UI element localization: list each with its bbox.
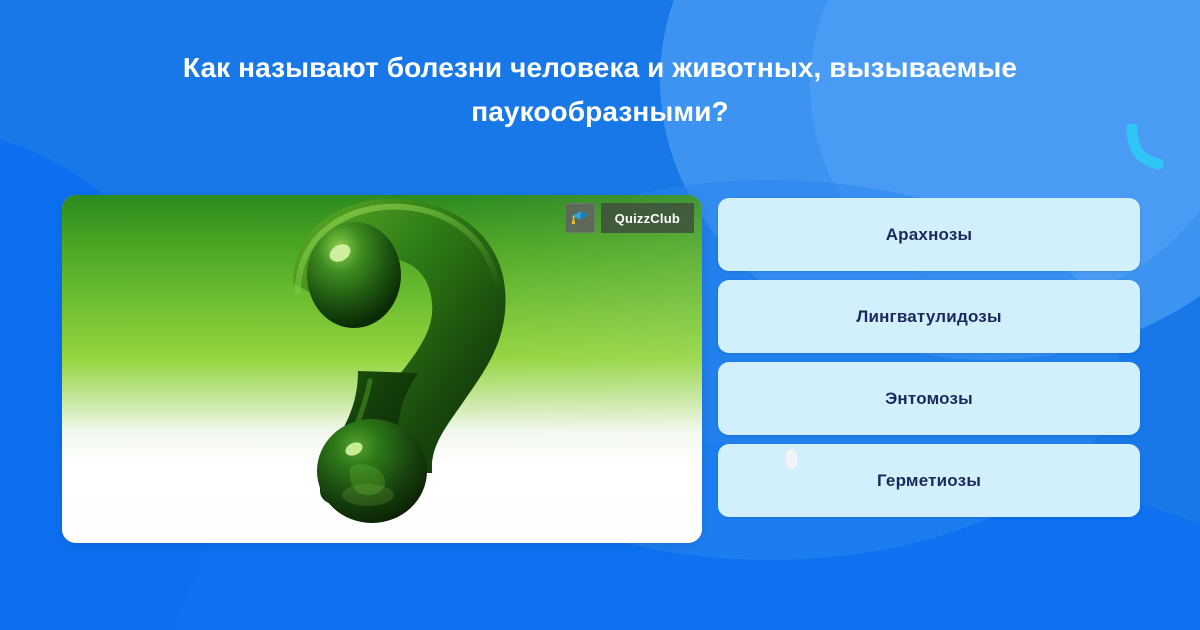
answer-option-3-label: Энтомозы [885, 389, 973, 409]
scroll-indicator[interactable] [786, 449, 797, 469]
watermark-badge: QuizzClub [565, 203, 694, 233]
graduation-cap-icon [565, 203, 595, 233]
answer-option-4[interactable]: Герметиозы [718, 444, 1140, 517]
answer-option-2-label: Лингватулидозы [856, 307, 1001, 327]
watermark-label: QuizzClub [601, 203, 694, 233]
answer-option-1-label: Арахнозы [886, 225, 973, 245]
question-image-card: QuizzClub [62, 195, 702, 543]
answer-option-2[interactable]: Лингватулидозы [718, 280, 1140, 353]
answer-option-1[interactable]: Арахнозы [718, 198, 1140, 271]
answer-options-list: Арахнозы Лингватулидозы Энтомозы Гермети… [718, 198, 1140, 517]
question-mark-dot-icon [62, 195, 702, 543]
answer-option-4-label: Герметиозы [877, 471, 981, 491]
answer-option-3[interactable]: Энтомозы [718, 362, 1140, 435]
quiz-screenshot: Как называют болезни человека и животных… [0, 0, 1200, 630]
page-title: Как называют болезни человека и животных… [0, 46, 1200, 134]
